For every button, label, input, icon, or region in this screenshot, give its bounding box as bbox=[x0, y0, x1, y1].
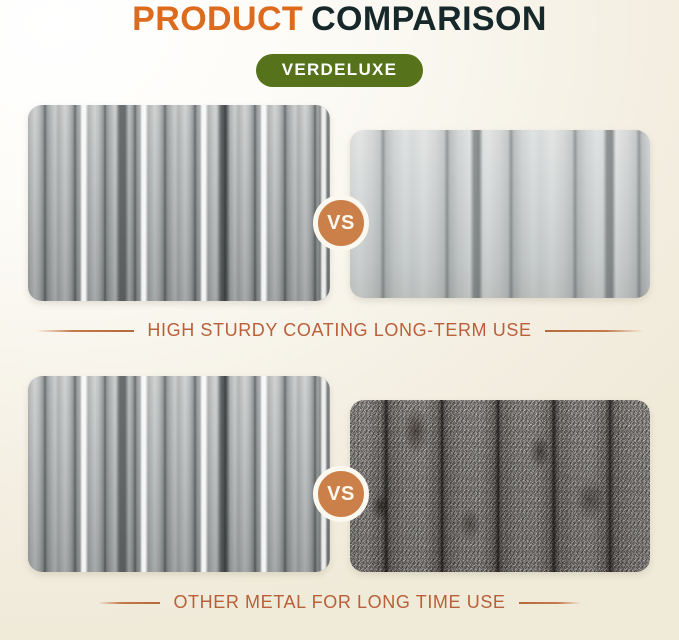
caption-rule-right-icon bbox=[519, 602, 581, 604]
caption-rule-right-icon bbox=[545, 330, 643, 332]
comparison-row1-right-panel-image bbox=[350, 130, 650, 298]
brand-badge-container: VERDELUXE bbox=[0, 54, 679, 87]
page-title-second-word: COMPARISON bbox=[311, 0, 547, 38]
comparison-row2-right-panel-image bbox=[350, 400, 650, 572]
comparison-row1-caption-text: HIGH STURDY COATING LONG-TERM USE bbox=[147, 320, 531, 341]
page-title: PRODUCTCOMPARISON bbox=[0, 2, 679, 36]
comparison-row1-caption: HIGH STURDY COATING LONG-TERM USE bbox=[0, 320, 679, 341]
caption-rule-left-icon bbox=[36, 330, 134, 332]
comparison-row2-left-panel-image bbox=[28, 376, 330, 572]
comparison-row2-caption-text: OTHER METAL FOR LONG TIME USE bbox=[173, 592, 505, 613]
product-comparison-infographic: PRODUCTCOMPARISON VERDELUXE VS HIGH STUR… bbox=[0, 0, 679, 640]
comparison-row1-left-panel-image bbox=[28, 105, 330, 301]
caption-rule-left-icon bbox=[98, 602, 160, 604]
page-title-accent-word: PRODUCT bbox=[132, 0, 303, 38]
vs-badge-row2: VS bbox=[313, 466, 369, 522]
comparison-row2-caption: OTHER METAL FOR LONG TIME USE bbox=[0, 592, 679, 613]
brand-badge: VERDELUXE bbox=[256, 54, 424, 87]
vs-badge-row1: VS bbox=[313, 195, 369, 251]
